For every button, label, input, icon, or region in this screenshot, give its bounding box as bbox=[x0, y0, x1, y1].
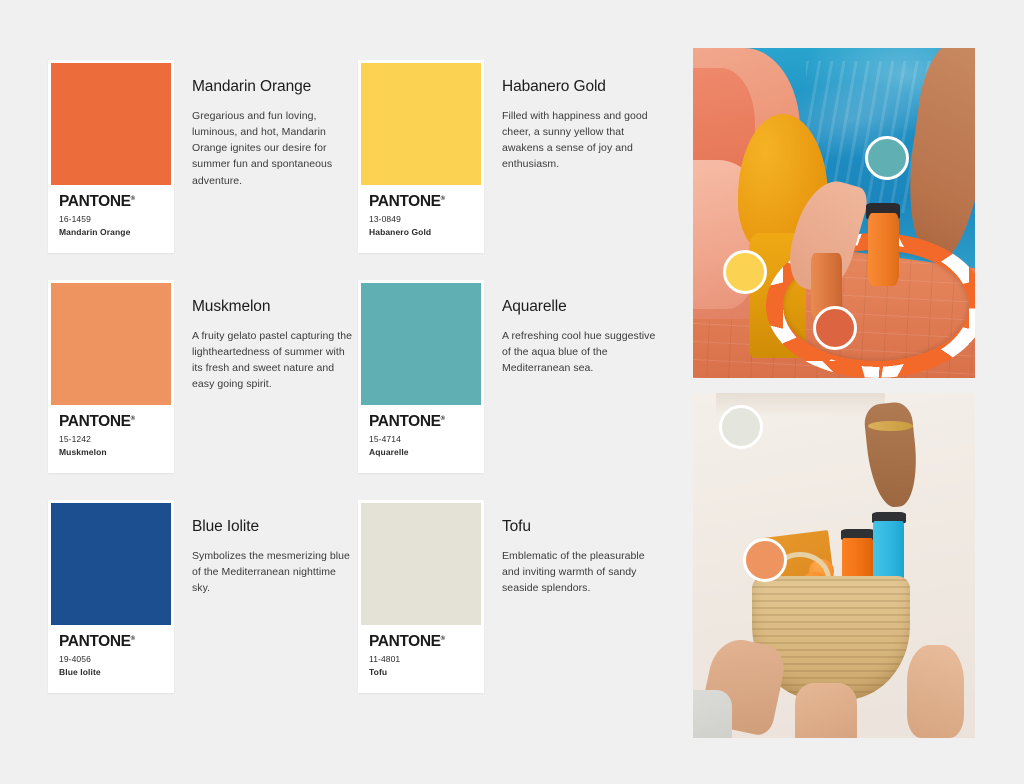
pantone-wordmark-text: PANTONE bbox=[369, 633, 441, 650]
color-chip bbox=[51, 283, 171, 405]
card-meta: PANTONE® 11-4801 Tofu bbox=[361, 625, 481, 693]
color-chip bbox=[361, 503, 481, 625]
pantone-palette-page: PANTONE® 16-1459 Mandarin Orange Mandari… bbox=[0, 0, 1024, 784]
color-name: Tofu bbox=[369, 667, 473, 677]
swatch-description: Symbolizes the mesmerizing blue of the M… bbox=[192, 548, 352, 597]
swatch-copy: Aquarelle A refreshing cool hue suggesti… bbox=[502, 280, 662, 376]
color-chip bbox=[51, 63, 171, 185]
color-chip bbox=[51, 503, 171, 625]
pantone-wordmark: PANTONE® bbox=[59, 194, 163, 210]
registered-trademark-icon: ® bbox=[441, 416, 445, 422]
color-dot-aquarelle[interactable] bbox=[865, 136, 909, 180]
swatch-entry-mandarin-orange[interactable]: PANTONE® 16-1459 Mandarin Orange Mandari… bbox=[48, 60, 358, 280]
swatch-grid: PANTONE® 16-1459 Mandarin Orange Mandari… bbox=[48, 60, 668, 720]
swatch-description: A fruity gelato pastel capturing the lig… bbox=[192, 328, 352, 393]
swatch-entry-aquarelle[interactable]: PANTONE® 15-4714 Aquarelle Aquarelle A r… bbox=[358, 280, 668, 500]
color-name: Habanero Gold bbox=[369, 227, 473, 237]
pantone-wordmark: PANTONE® bbox=[369, 194, 473, 210]
pantone-card[interactable]: PANTONE® 16-1459 Mandarin Orange bbox=[48, 60, 174, 253]
pantone-wordmark-text: PANTONE bbox=[369, 193, 441, 210]
pantone-card[interactable]: PANTONE® 15-4714 Aquarelle bbox=[358, 280, 484, 473]
color-code: 16-1459 bbox=[59, 214, 163, 224]
swatch-description: Gregarious and fun loving, luminous, and… bbox=[192, 108, 352, 189]
pantone-card[interactable]: PANTONE® 11-4801 Tofu bbox=[358, 500, 484, 693]
swatch-title: Blue Iolite bbox=[192, 518, 352, 537]
card-meta: PANTONE® 16-1459 Mandarin Orange bbox=[51, 185, 171, 253]
registered-trademark-icon: ® bbox=[441, 196, 445, 202]
photo-column bbox=[693, 48, 975, 738]
pantone-wordmark: PANTONE® bbox=[369, 414, 473, 430]
registered-trademark-icon: ® bbox=[441, 636, 445, 642]
card-meta: PANTONE® 19-4056 Blue Iolite bbox=[51, 625, 171, 693]
pantone-card[interactable]: PANTONE® 19-4056 Blue Iolite bbox=[48, 500, 174, 693]
pantone-wordmark-text: PANTONE bbox=[59, 413, 131, 430]
registered-trademark-icon: ® bbox=[131, 196, 135, 202]
registered-trademark-icon: ® bbox=[131, 636, 135, 642]
color-code: 11-4801 bbox=[369, 654, 473, 664]
pantone-card[interactable]: PANTONE® 15-1242 Muskmelon bbox=[48, 280, 174, 473]
color-dot-mandarin-orange[interactable] bbox=[813, 306, 857, 350]
card-meta: PANTONE® 13-0849 Habanero Gold bbox=[361, 185, 481, 253]
color-chip bbox=[361, 283, 481, 405]
swatch-title: Tofu bbox=[502, 518, 662, 537]
pantone-wordmark: PANTONE® bbox=[369, 634, 473, 650]
swatch-entry-tofu[interactable]: PANTONE® 11-4801 Tofu Tofu Emblematic of… bbox=[358, 500, 668, 720]
swatch-copy: Habanero Gold Filled with happiness and … bbox=[502, 60, 662, 173]
swatch-copy: Mandarin Orange Gregarious and fun lovin… bbox=[192, 60, 352, 189]
color-code: 15-1242 bbox=[59, 434, 163, 444]
pantone-wordmark-text: PANTONE bbox=[59, 633, 131, 650]
color-chip bbox=[361, 63, 481, 185]
shirt-sleeve bbox=[693, 690, 732, 738]
swatch-description: A refreshing cool hue suggestive of the … bbox=[502, 328, 662, 377]
swatch-entry-habanero-gold[interactable]: PANTONE® 13-0849 Habanero Gold Habanero … bbox=[358, 60, 668, 280]
swatch-entry-blue-iolite[interactable]: PANTONE® 19-4056 Blue Iolite Blue Iolite… bbox=[48, 500, 358, 720]
pantone-wordmark-text: PANTONE bbox=[369, 413, 441, 430]
registered-trademark-icon: ® bbox=[131, 416, 135, 422]
swatch-title: Muskmelon bbox=[192, 298, 352, 317]
tumbler-orange bbox=[868, 213, 899, 286]
pantone-card[interactable]: PANTONE® 13-0849 Habanero Gold bbox=[358, 60, 484, 253]
swatch-entry-muskmelon[interactable]: PANTONE® 15-1242 Muskmelon Muskmelon A f… bbox=[48, 280, 358, 500]
pantone-wordmark: PANTONE® bbox=[59, 634, 163, 650]
photo-basket[interactable] bbox=[693, 393, 975, 738]
swatch-description: Emblematic of the pleasurable and inviti… bbox=[502, 548, 662, 597]
pantone-wordmark-text: PANTONE bbox=[59, 193, 131, 210]
swatch-description: Filled with happiness and good cheer, a … bbox=[502, 108, 662, 173]
hand-holding-bottom bbox=[795, 683, 857, 738]
color-name: Muskmelon bbox=[59, 447, 163, 457]
photo-poolside[interactable] bbox=[693, 48, 975, 378]
swatch-copy: Blue Iolite Symbolizes the mesmerizing b… bbox=[192, 500, 352, 596]
swatch-title: Aquarelle bbox=[502, 298, 662, 317]
color-name: Blue Iolite bbox=[59, 667, 163, 677]
card-meta: PANTONE® 15-4714 Aquarelle bbox=[361, 405, 481, 473]
color-code: 15-4714 bbox=[369, 434, 473, 444]
swatch-title: Habanero Gold bbox=[502, 78, 662, 97]
color-name: Aquarelle bbox=[369, 447, 473, 457]
card-meta: PANTONE® 15-1242 Muskmelon bbox=[51, 405, 171, 473]
color-dot-habanero-gold[interactable] bbox=[723, 250, 767, 294]
hand-reaching-right bbox=[907, 645, 963, 738]
color-code: 19-4056 bbox=[59, 654, 163, 664]
swatch-copy: Tofu Emblematic of the pleasurable and i… bbox=[502, 500, 662, 596]
bracelet bbox=[868, 421, 913, 431]
color-dot-muskmelon[interactable] bbox=[743, 538, 787, 582]
swatch-copy: Muskmelon A fruity gelato pastel capturi… bbox=[192, 280, 352, 393]
swatch-title: Mandarin Orange bbox=[192, 78, 352, 97]
color-code: 13-0849 bbox=[369, 214, 473, 224]
color-dot-tofu[interactable] bbox=[719, 405, 763, 449]
pantone-wordmark: PANTONE® bbox=[59, 414, 163, 430]
color-name: Mandarin Orange bbox=[59, 227, 163, 237]
